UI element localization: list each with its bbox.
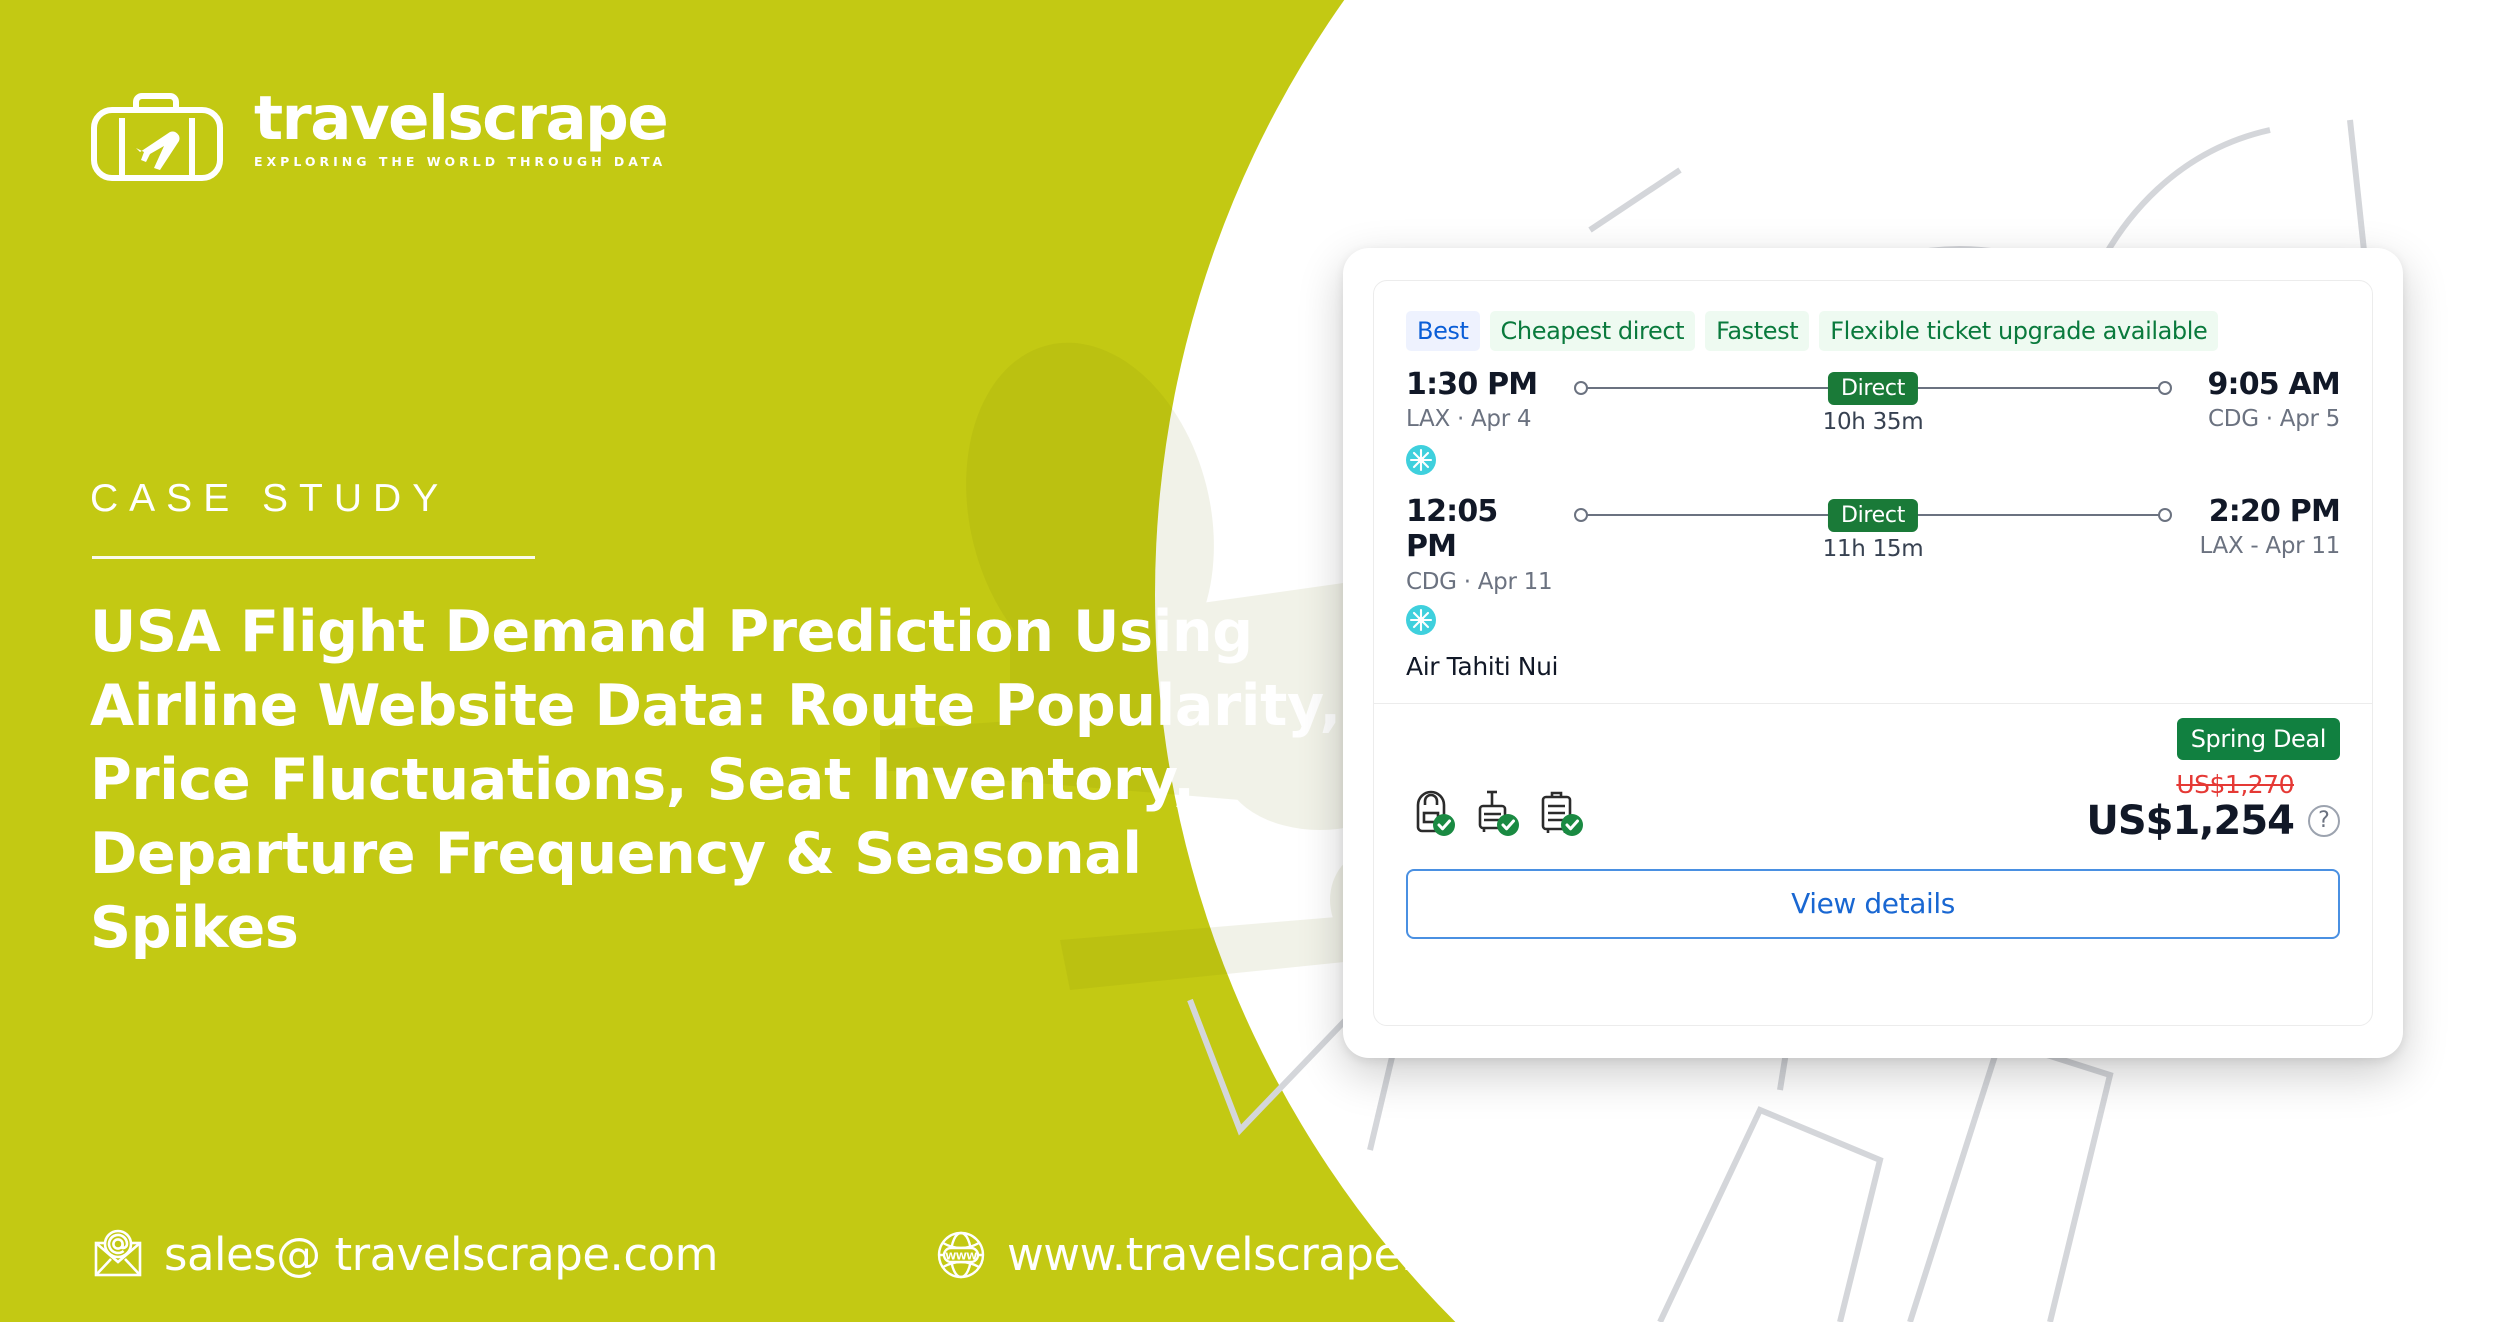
- leg-arrive: 9:05 AM CDG · Apr 5: [2190, 367, 2340, 432]
- tag-best[interactable]: Best: [1406, 311, 1480, 351]
- personal-item-backpack-icon: [1406, 787, 1456, 837]
- checked-bag-icon: [1534, 787, 1584, 837]
- price-block: US$1,270 US$1,254 ?: [2086, 770, 2340, 843]
- leg-destination-dot: [2158, 381, 2172, 395]
- flight-legs: 1:30 PM LAX · Apr 4 Direct 10h 35m: [1374, 351, 2372, 681]
- air-tahiti-nui-icon: [1406, 605, 1436, 635]
- leg-depart-time: 12:05 PM: [1406, 494, 1556, 565]
- leg-depart: 1:30 PM LAX · Apr 4: [1406, 367, 1556, 432]
- flight-leg-return: 12:05 PM CDG · Apr 11 Direct 11h 15m: [1406, 494, 2340, 595]
- price-current: US$1,254: [2086, 799, 2294, 843]
- flight-tags: Best Cheapest direct Fastest Flexible ti…: [1374, 281, 2372, 351]
- footer-email-text: sales@ travelscrape.com: [164, 1228, 718, 1281]
- envelope-at-icon: [92, 1229, 144, 1281]
- brand-logo: travelscrape EXPLORING THE WORLD THROUGH…: [88, 88, 667, 184]
- status-badge-deal: Spring Deal: [2177, 718, 2340, 760]
- price-section: Spring Deal: [1374, 704, 2372, 1025]
- leg-arrive-place: CDG · Apr 5: [2190, 406, 2340, 432]
- footer-website[interactable]: WWW www.travelscrape.com: [935, 1228, 1509, 1281]
- tag-fastest[interactable]: Fastest: [1705, 311, 1809, 351]
- leg-arrive-time: 9:05 AM: [2190, 367, 2340, 402]
- eyebrow-case-study: CASE STUDY: [90, 477, 449, 521]
- leg-arrive: 2:20 PM LAX - Apr 11: [2190, 494, 2340, 559]
- svg-text:WWW: WWW: [945, 1251, 977, 1262]
- leg-depart-time: 1:30 PM: [1406, 367, 1556, 402]
- leg-duration: 11h 15m: [1823, 536, 1924, 562]
- footer-email[interactable]: sales@ travelscrape.com: [92, 1228, 718, 1281]
- question-mark-icon[interactable]: ?: [2308, 805, 2340, 837]
- logo-wordmark: travelscrape: [254, 88, 667, 150]
- page-title: USA Flight Demand Prediction Using Airli…: [90, 595, 1350, 965]
- logo-tagline: EXPLORING THE WORLD THROUGH DATA: [254, 154, 667, 169]
- airline-name: Air Tahiti Nui: [1406, 652, 2340, 681]
- baggage-allowance: [1406, 787, 1584, 843]
- leg-origin-dot: [1574, 381, 1588, 395]
- footer-website-text: www.travelscrape.com: [1007, 1228, 1509, 1281]
- leg-origin-dot: [1574, 508, 1588, 522]
- leg-depart-place: LAX · Apr 4: [1406, 406, 1556, 432]
- flight-leg-outbound: 1:30 PM LAX · Apr 4 Direct 10h 35m: [1406, 367, 2340, 435]
- case-study-poster: travelscrape EXPLORING THE WORLD THROUGH…: [0, 0, 2507, 1322]
- air-tahiti-nui-icon: [1406, 445, 1436, 475]
- leg-stops-pill: Direct: [1828, 372, 1918, 405]
- leg-arrive-time: 2:20 PM: [2190, 494, 2340, 529]
- leg-arrive-place: LAX - Apr 11: [2190, 533, 2340, 559]
- price-original: US$1,270: [2176, 770, 2294, 799]
- view-details-button[interactable]: View details: [1406, 869, 2340, 939]
- tag-cheapest-direct[interactable]: Cheapest direct: [1490, 311, 1696, 351]
- suitcase-plane-icon: [88, 88, 240, 184]
- tag-flexible-upgrade[interactable]: Flexible ticket upgrade available: [1819, 311, 2218, 351]
- leg-timeline: Direct 10h 35m: [1574, 367, 2172, 435]
- leg-timeline: Direct 11h 15m: [1574, 494, 2172, 562]
- globe-www-icon: WWW: [935, 1229, 987, 1281]
- flight-result-card: Best Cheapest direct Fastest Flexible ti…: [1343, 248, 2403, 1058]
- leg-stops-pill: Direct: [1828, 499, 1918, 532]
- leg-depart: 12:05 PM CDG · Apr 11: [1406, 494, 1556, 595]
- cabin-bag-icon: [1470, 787, 1520, 837]
- flight-card-inner: Best Cheapest direct Fastest Flexible ti…: [1373, 280, 2373, 1026]
- leg-destination-dot: [2158, 508, 2172, 522]
- eyebrow-divider: [92, 556, 535, 559]
- leg-depart-place: CDG · Apr 11: [1406, 569, 1556, 595]
- leg-duration: 10h 35m: [1823, 409, 1924, 435]
